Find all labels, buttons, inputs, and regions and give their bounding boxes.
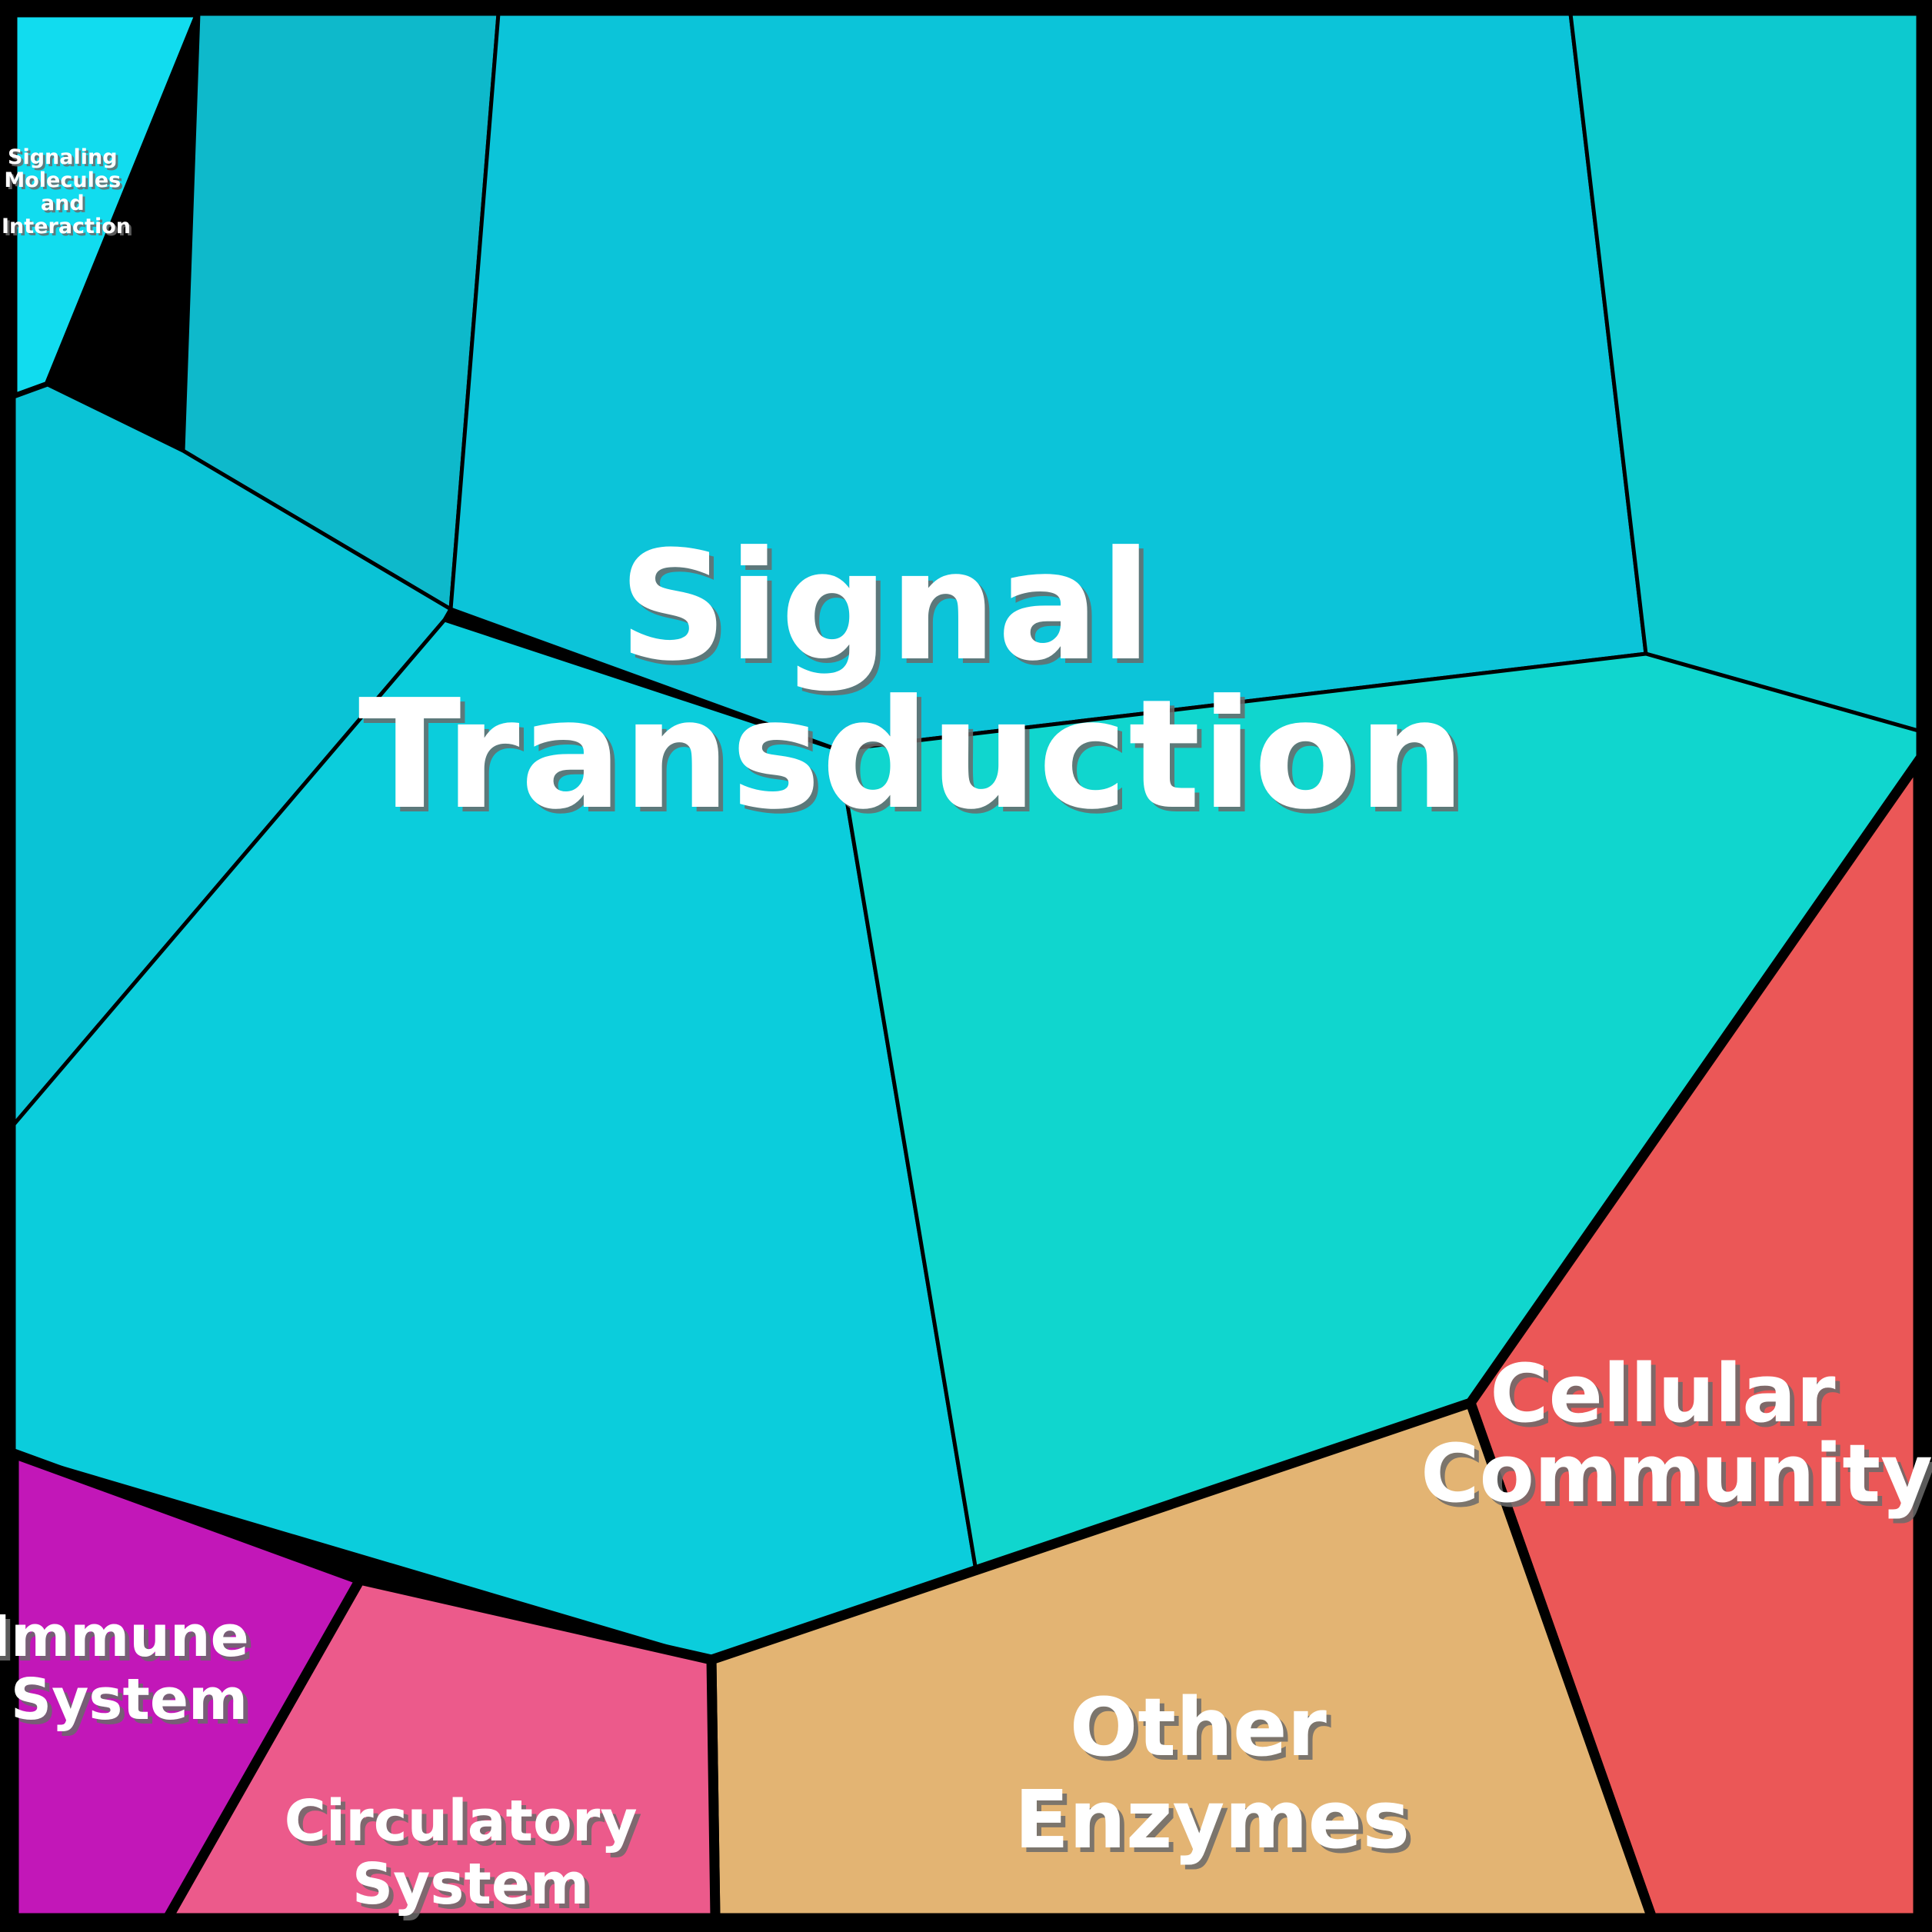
label-signaling-molecules-and-interaction: Signaling Molecules and Interaction Sign… [2, 145, 133, 241]
voronoi-treemap-figure: Signaling Molecules and Interaction Sign… [0, 0, 1932, 1932]
svg-text:Immune System: Immune System [0, 1604, 269, 1733]
label-other-enzymes: Other Enzymes Other Enzymes [1014, 1681, 1414, 1871]
svg-text:Other Enzymes: Other Enzymes [1014, 1681, 1410, 1867]
svg-text:Signaling Molecules: Signaling Molecules and Interaction [2, 145, 131, 238]
svg-text:Cellular Community: Cellular Community [1421, 1347, 1932, 1521]
label-cellular-community: Cellular Community Cellular Community [1421, 1347, 1932, 1525]
label-immune-system: Immune System Immune System [0, 1604, 274, 1737]
